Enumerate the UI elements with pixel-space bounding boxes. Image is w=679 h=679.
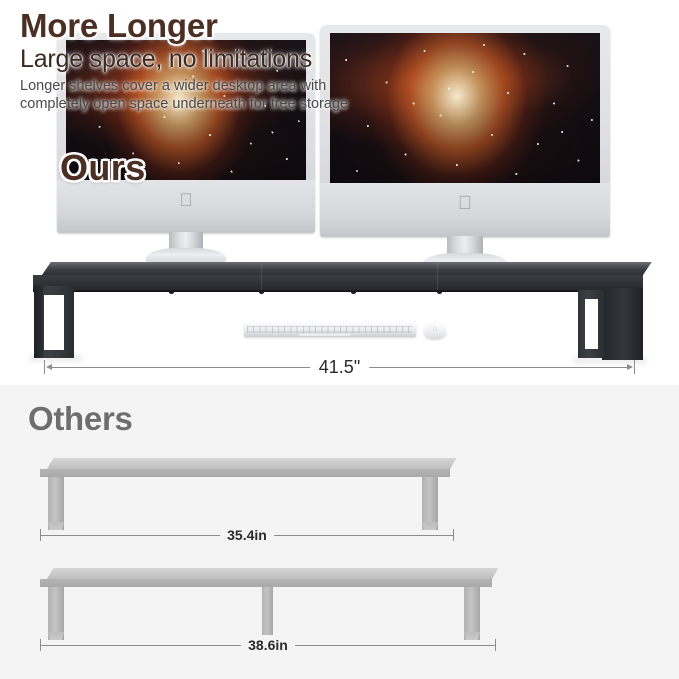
competitor-2-dimension-label: 38.6in <box>241 638 295 652</box>
shelf-leg-center <box>262 587 273 635</box>
ours-badge: Ours <box>60 147 146 189</box>
leg-frame <box>602 288 643 360</box>
apple-logo-icon:  <box>179 191 193 209</box>
riser-seam <box>261 263 262 290</box>
shelf-top-surface <box>47 568 498 579</box>
dimension-cap-right <box>495 639 496 651</box>
dimension-cap-left <box>40 639 41 651</box>
leg-opening <box>585 299 598 349</box>
ours-dimension-label: 41.5" <box>310 358 369 376</box>
mouse:  <box>424 322 446 339</box>
competitor-1-dimension: 35.4in <box>40 526 454 544</box>
keyboard <box>244 323 416 337</box>
monitor-riser-stand <box>33 262 643 314</box>
riser-right-leg <box>578 288 643 360</box>
keyboard-keys <box>247 326 412 333</box>
riser-shadow-line <box>33 290 643 292</box>
others-title: Others <box>28 400 133 438</box>
ours-section:   Ours More Longer Large space, no lim… <box>0 0 679 385</box>
apple-logo-icon:  <box>433 327 437 333</box>
header-text-block: More Longer Large space, no limitations … <box>20 8 450 114</box>
riser-pad <box>351 291 356 294</box>
shelf-leg <box>464 587 480 640</box>
competitor-1-dimension-label: 35.4in <box>220 528 274 542</box>
competitor-shelf-2 <box>40 568 492 640</box>
dimension-arrow-right <box>627 364 633 370</box>
dimension-cap-right <box>634 360 635 374</box>
shelf-front-edge <box>40 469 450 477</box>
riser-top-surface <box>42 262 652 275</box>
right-monitor-chin:  <box>320 183 610 237</box>
competitor-2-dimension: 38.6in <box>40 636 496 654</box>
dimension-cap-left <box>40 529 41 541</box>
shelf-top-surface <box>47 458 456 469</box>
keyboard-spacebar <box>299 334 351 336</box>
page-description: Longer shelves cover a wider desktop are… <box>20 78 450 113</box>
shelf-leg <box>422 477 438 530</box>
description-line-1: Longer shelves cover a wider desktop are… <box>20 78 450 96</box>
page-title: More Longer <box>20 8 450 44</box>
leg-opening <box>44 295 64 350</box>
shelf-leg <box>48 477 64 530</box>
riser-pad <box>437 291 442 294</box>
others-section: Others 35.4in 38.6in <box>0 385 679 679</box>
dimension-arrow-left <box>46 364 52 370</box>
ours-dimension: 41.5" <box>44 357 635 377</box>
apple-logo-icon:  <box>458 194 472 213</box>
dimension-cap-right <box>453 529 454 541</box>
riser-pad <box>169 291 174 294</box>
description-line-2: completely open space underneath for fre… <box>20 96 450 114</box>
shelf-leg <box>48 587 64 640</box>
leg-side-panel <box>34 286 43 358</box>
competitor-shelf-1 <box>40 458 450 530</box>
riser-seam <box>437 263 438 290</box>
page-subtitle: Large space, no limitations <box>20 46 450 74</box>
riser-left-leg <box>34 286 74 358</box>
dimension-cap-left <box>44 360 45 374</box>
shelf-front-edge <box>40 579 492 587</box>
riser-pad <box>259 291 264 294</box>
